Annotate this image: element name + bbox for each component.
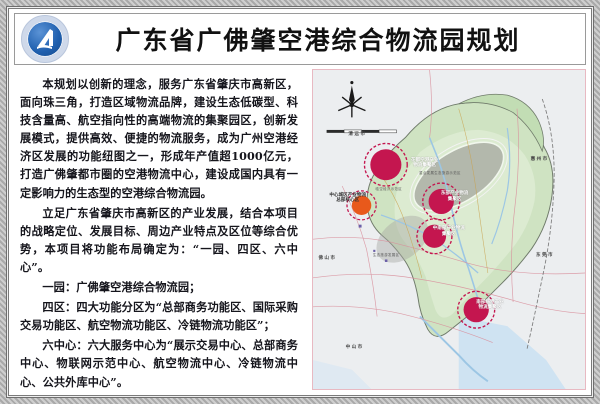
paragraph-5: 六中心：六大服务中心为“展示交易中心、总部商务中心、物联网示范中心、航空物流中心… — [20, 336, 298, 390]
title-bar: 广东省广佛肇空港综合物流园规划 — [14, 13, 586, 65]
paragraph-3: 一园：广佛肇空港综合物流园； — [20, 278, 298, 296]
page-title: 广东省广佛肇空港综合物流园规划 — [69, 21, 585, 57]
map-graphic — [313, 70, 585, 389]
description-text-column: 本规划以创新的理念，服务广东省肇庆市高新区，面向珠三角，打造区域物流品牌，建设生… — [14, 69, 306, 390]
content-area: 本规划以创新的理念，服务广东省肇庆市高新区，面向珠三角，打造区域物流品牌，建设生… — [14, 69, 586, 390]
zone-marker-huadu — [364, 143, 407, 186]
poster-frame: 广东省广佛肇空港综合物流园规划 本规划以创新的理念，服务广东省肇庆市高新区，面向… — [0, 0, 600, 404]
paragraph-1: 本规划以创新的理念，服务广东省肇庆市高新区，面向珠三角，打造区域物流品牌，建设生… — [20, 75, 298, 202]
paragraph-2: 立足广东省肇庆市高新区的产业发展，结合本项目的战略定位、发展目标、周边产业特点及… — [20, 204, 298, 276]
planning-map[interactable]: 花都空港产业物流集聚区 中心城区产业物流总部核心区 东部产业物流集聚区 中南部产… — [312, 69, 586, 390]
map-scale-bar-icon — [327, 130, 397, 133]
guangdong-airport-logistics-emblem-icon — [21, 15, 69, 63]
paragraph-4: 四区：四大功能分区为“总部商务功能区、国际采购交易功能区、航空物流功能区、冷链物… — [20, 298, 298, 334]
poster-sheet: 广东省广佛肇空港综合物流园规划 本规划以创新的理念，服务广东省肇庆市高新区，面向… — [8, 8, 592, 396]
